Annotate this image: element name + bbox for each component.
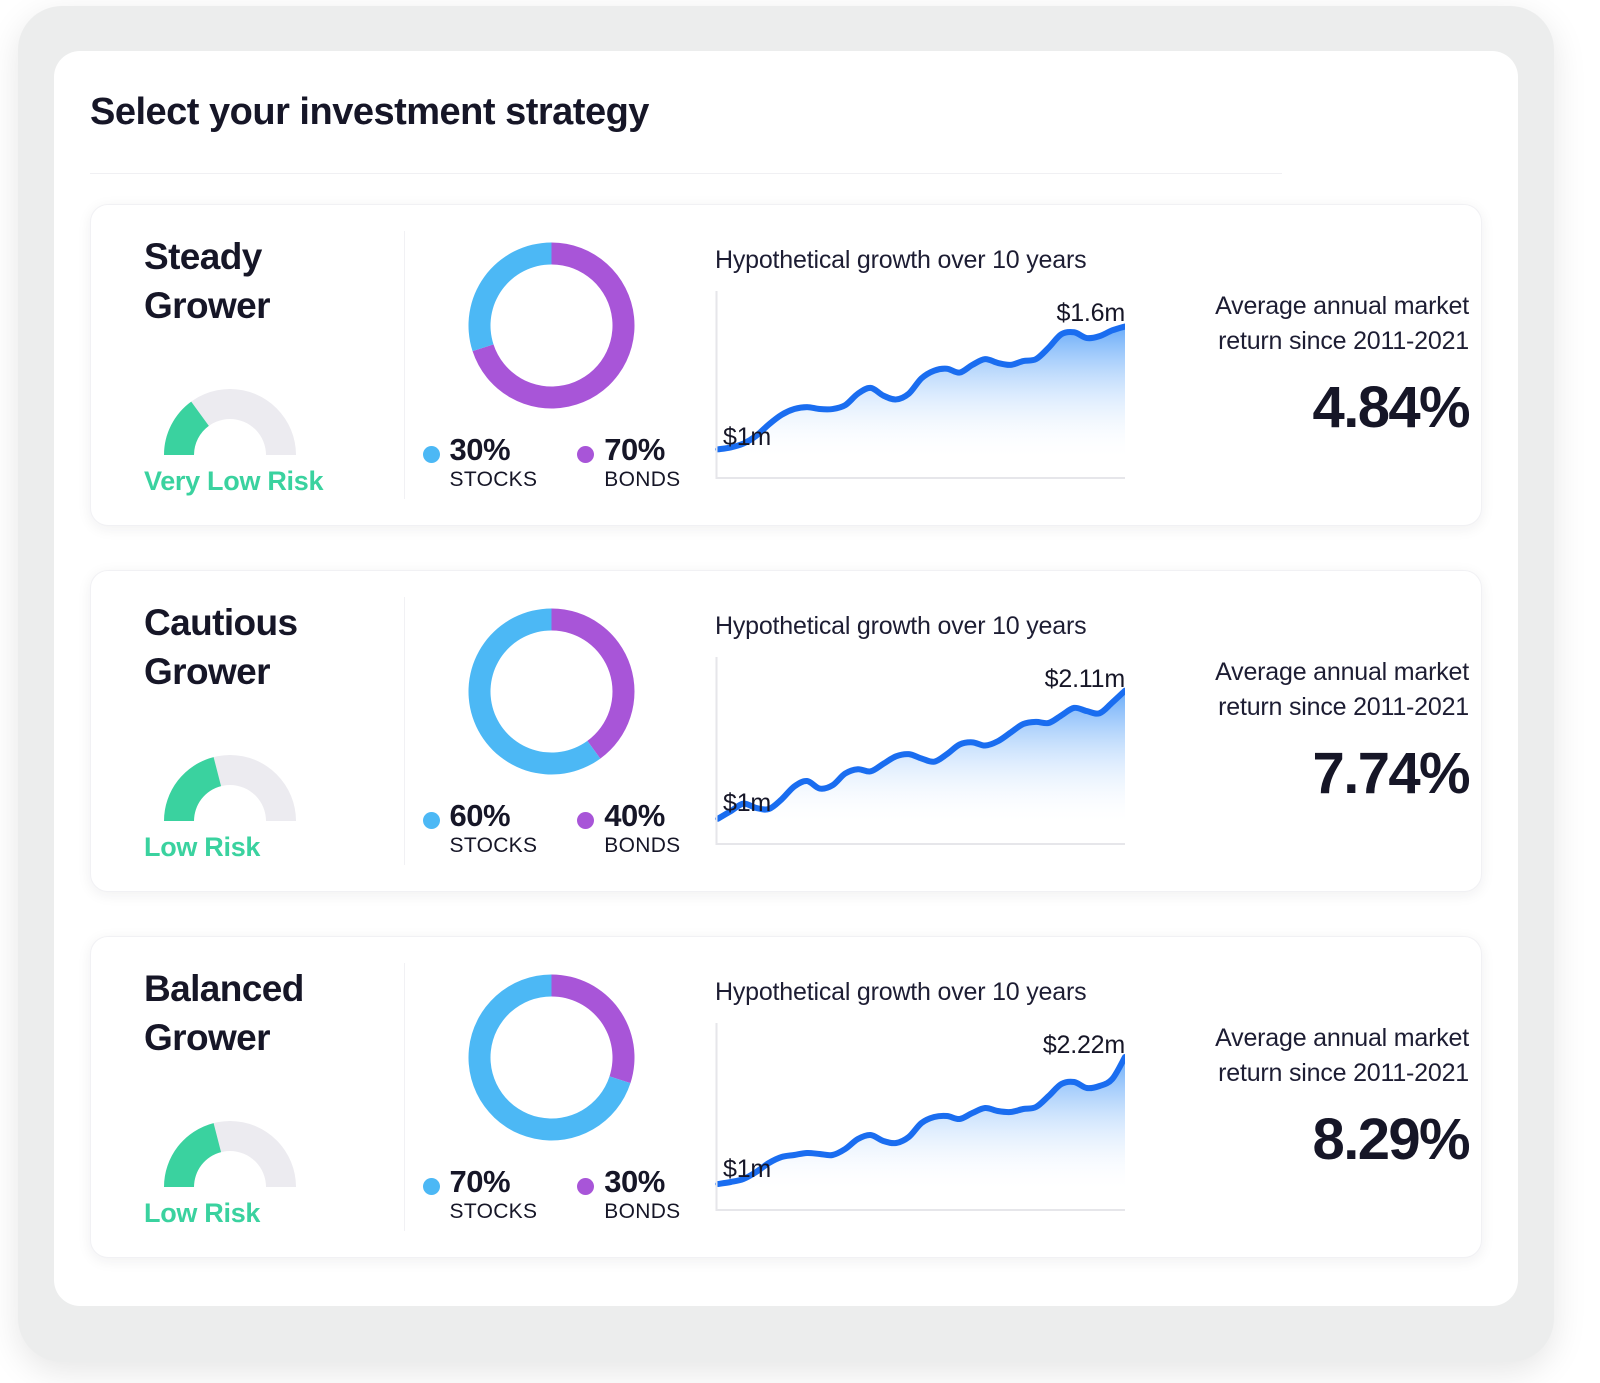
title-divider: [90, 173, 1282, 174]
strategy-identity: SteadyGrowerVery Low Risk: [91, 205, 404, 525]
return-section: Average annual marketreturn since 2011-2…: [1144, 289, 1481, 441]
legend-item-stocks: 30%STOCKS: [423, 433, 538, 493]
growth-chart-plot: $1m$2.22m: [715, 1021, 1125, 1217]
strategy-identity: BalancedGrowerLow Risk: [91, 937, 404, 1257]
allocation-donut-svg: [464, 604, 639, 779]
allocation-donut-svg: [464, 238, 639, 413]
allocation-legend: 60%STOCKS40%BONDS: [423, 799, 681, 859]
legend-item-stocks: 60%STOCKS: [423, 799, 538, 859]
allocation-legend: 30%STOCKS70%BONDS: [423, 433, 681, 493]
average-annual-return-value: 4.84%: [1144, 374, 1469, 441]
strategy-name: SteadyGrower: [144, 233, 374, 331]
chart-start-value-label: $1m: [723, 423, 771, 452]
strategy-name: BalancedGrower: [144, 965, 374, 1063]
growth-chart-plot: $1m$2.11m: [715, 655, 1125, 851]
legend-category-bonds: BONDS: [604, 833, 680, 858]
legend-dot-stocks-icon: [423, 1178, 440, 1195]
legend-percent-bonds: 40%: [604, 799, 680, 834]
legend-item-stocks: 70%STOCKS: [423, 1165, 538, 1225]
return-caption: Average annual marketreturn since 2011-2…: [1144, 655, 1469, 724]
return-caption: Average annual marketreturn since 2011-2…: [1144, 289, 1469, 358]
growth-chart-plot: $1m$1.6m: [715, 289, 1125, 485]
legend-percent-stocks: 70%: [450, 1165, 538, 1200]
risk-gauge: Low Risk: [144, 735, 316, 863]
allocation-section: 30%STOCKS70%BONDS: [405, 238, 698, 493]
allocation-section: 70%STOCKS30%BONDS: [405, 970, 698, 1225]
strategy-name-line1: Cautious: [144, 602, 297, 643]
page-title: Select your investment strategy: [90, 91, 649, 134]
legend-percent-stocks: 60%: [450, 799, 538, 834]
legend-dot-stocks-icon: [423, 812, 440, 829]
return-caption-line1: Average annual market: [1215, 292, 1469, 320]
growth-chart-section: Hypothetical growth over 10 years$1m$1.6…: [699, 246, 1144, 485]
legend-text: 40%BONDS: [604, 799, 680, 859]
strategy-name-line1: Steady: [144, 236, 262, 277]
return-caption-line2: return since 2011-2021: [1218, 693, 1469, 721]
risk-level-label: Very Low Risk: [144, 466, 316, 497]
legend-category-bonds: BONDS: [604, 467, 680, 492]
growth-chart-title: Hypothetical growth over 10 years: [715, 612, 1144, 641]
chart-end-value-label: $2.11m: [1045, 665, 1125, 694]
risk-gauge: Very Low Risk: [144, 369, 316, 497]
chart-end-value-label: $1.6m: [1057, 299, 1125, 328]
return-caption-line1: Average annual market: [1215, 658, 1469, 686]
legend-dot-bonds-icon: [577, 812, 594, 829]
strategy-name-line1: Balanced: [144, 968, 304, 1009]
growth-chart-title: Hypothetical growth over 10 years: [715, 246, 1144, 275]
legend-dot-stocks-icon: [423, 446, 440, 463]
allocation-legend: 70%STOCKS30%BONDS: [423, 1165, 681, 1225]
return-caption: Average annual marketreturn since 2011-2…: [1144, 1021, 1469, 1090]
chart-start-value-label: $1m: [723, 789, 771, 818]
strategy-card[interactable]: BalancedGrowerLow Risk70%STOCKS30%BONDSH…: [90, 936, 1482, 1258]
risk-gauge-svg: [144, 735, 316, 825]
legend-text: 70%STOCKS: [450, 1165, 538, 1225]
strategy-name-line2: Grower: [144, 651, 270, 692]
risk-gauge-svg: [144, 369, 316, 459]
legend-text: 70%BONDS: [604, 433, 680, 493]
gauge-fill: [164, 1123, 221, 1187]
gauge-fill: [164, 757, 221, 821]
legend-percent-bonds: 70%: [604, 433, 680, 468]
legend-item-bonds: 70%BONDS: [577, 433, 680, 493]
strategy-card[interactable]: CautiousGrowerLow Risk60%STOCKS40%BONDSH…: [90, 570, 1482, 892]
legend-item-bonds: 40%BONDS: [577, 799, 680, 859]
legend-category-stocks: STOCKS: [450, 1199, 538, 1224]
legend-category-stocks: STOCKS: [450, 833, 538, 858]
growth-chart-section: Hypothetical growth over 10 years$1m$2.1…: [699, 612, 1144, 851]
strategy-identity: CautiousGrowerLow Risk: [91, 571, 404, 891]
risk-level-label: Low Risk: [144, 832, 316, 863]
chart-area-fill: [718, 326, 1125, 456]
legend-percent-stocks: 30%: [450, 433, 538, 468]
risk-gauge-svg: [144, 1101, 316, 1191]
strategy-name-line2: Grower: [144, 285, 270, 326]
legend-dot-bonds-icon: [577, 1178, 594, 1195]
return-section: Average annual marketreturn since 2011-2…: [1144, 1021, 1481, 1173]
donut-slice-stocks: [469, 242, 552, 351]
donut-slice-bonds: [552, 974, 635, 1083]
strategy-panel: Select your investment strategy SteadyGr…: [54, 51, 1518, 1306]
legend-text: 60%STOCKS: [450, 799, 538, 859]
average-annual-return-value: 8.29%: [1144, 1106, 1469, 1173]
strategy-name: CautiousGrower: [144, 599, 374, 697]
average-annual-return-value: 7.74%: [1144, 740, 1469, 807]
legend-item-bonds: 30%BONDS: [577, 1165, 680, 1225]
legend-category-stocks: STOCKS: [450, 467, 538, 492]
growth-chart-section: Hypothetical growth over 10 years$1m$2.2…: [699, 978, 1144, 1217]
risk-level-label: Low Risk: [144, 1198, 316, 1229]
legend-percent-bonds: 30%: [604, 1165, 680, 1200]
return-section: Average annual marketreturn since 2011-2…: [1144, 655, 1481, 807]
legend-dot-bonds-icon: [577, 446, 594, 463]
legend-text: 30%STOCKS: [450, 433, 538, 493]
chart-end-value-label: $2.22m: [1043, 1031, 1125, 1060]
strategy-card-list: SteadyGrowerVery Low Risk30%STOCKS70%BON…: [90, 204, 1482, 1258]
return-caption-line1: Average annual market: [1215, 1024, 1469, 1052]
chart-start-value-label: $1m: [723, 1155, 771, 1184]
allocation-section: 60%STOCKS40%BONDS: [405, 604, 698, 859]
strategy-name-line2: Grower: [144, 1017, 270, 1058]
legend-text: 30%BONDS: [604, 1165, 680, 1225]
donut-slice-bonds: [552, 608, 635, 758]
risk-gauge: Low Risk: [144, 1101, 316, 1229]
allocation-donut-svg: [464, 970, 639, 1145]
strategy-card[interactable]: SteadyGrowerVery Low Risk30%STOCKS70%BON…: [90, 204, 1482, 526]
legend-category-bonds: BONDS: [604, 1199, 680, 1224]
growth-chart-title: Hypothetical growth over 10 years: [715, 978, 1144, 1007]
return-caption-line2: return since 2011-2021: [1218, 327, 1469, 355]
return-caption-line2: return since 2011-2021: [1218, 1059, 1469, 1087]
